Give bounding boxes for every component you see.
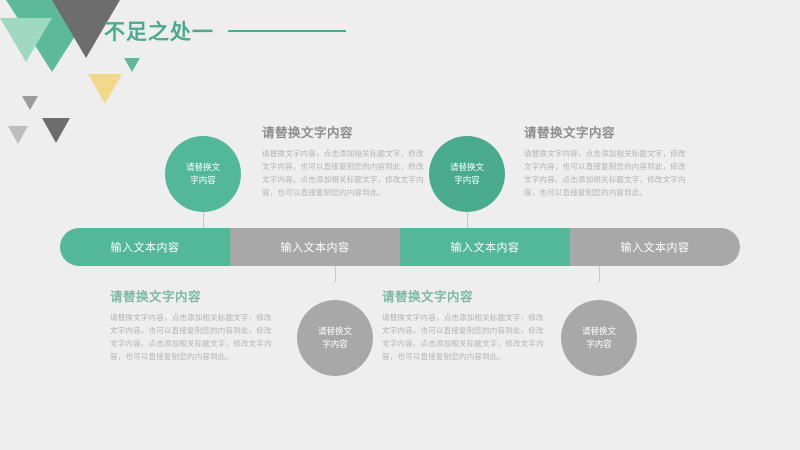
title-underline	[228, 30, 346, 32]
connector-bottom-left	[335, 266, 336, 282]
circle-node-3-label: 请替换文字内容	[318, 325, 352, 351]
decorative-triangle-teal-light	[0, 18, 52, 62]
process-bar-segment-1[interactable]: 输入文本内容	[60, 228, 230, 266]
text-block-bottom-right-body: 请替换文字内容，点击添加相关标题文字，修改文字内容，也可以直接复制您的内容到此，…	[382, 311, 546, 364]
circle-node-1[interactable]: 请替换文字内容	[165, 136, 241, 212]
text-block-top-left-body: 请替换文字内容，点击添加相关标题文字，修改文字内容，也可以直接复制您的内容到此，…	[262, 147, 426, 200]
circle-node-4[interactable]: 请替换文字内容	[561, 300, 637, 376]
text-block-bottom-right: 请替换文字内容 请替换文字内容，点击添加相关标题文字，修改文字内容，也可以直接复…	[382, 286, 546, 364]
circle-node-2-label: 请替换文字内容	[450, 161, 484, 187]
decorative-triangle-gray-mid	[42, 118, 70, 143]
circle-node-1-label: 请替换文字内容	[186, 161, 220, 187]
text-block-bottom-left: 请替换文字内容 请替换文字内容，点击添加相关标题文字，修改文字内容，也可以直接复…	[110, 286, 274, 364]
text-block-bottom-right-heading: 请替换文字内容	[382, 286, 546, 305]
page-title: 不足之处一	[104, 16, 346, 46]
circle-node-3[interactable]: 请替换文字内容	[297, 300, 373, 376]
text-block-bottom-left-heading: 请替换文字内容	[110, 286, 274, 305]
connector-top-left	[203, 212, 204, 228]
text-block-top-right-heading: 请替换文字内容	[524, 122, 688, 141]
text-block-bottom-left-body: 请替换文字内容，点击添加相关标题文字，修改文字内容，也可以直接复制您的内容到此，…	[110, 311, 274, 364]
text-block-top-left-heading: 请替换文字内容	[262, 122, 426, 141]
process-bar-segment-4[interactable]: 输入文本内容	[570, 228, 740, 266]
text-block-top-right-body: 请替换文字内容，点击添加相关标题文字，修改文字内容，也可以直接复制您的内容到此，…	[524, 147, 688, 200]
connector-bottom-right	[599, 266, 600, 282]
circle-node-2[interactable]: 请替换文字内容	[429, 136, 505, 212]
circle-node-4-label: 请替换文字内容	[582, 325, 616, 351]
decorative-triangle-gray-tiny	[22, 96, 38, 110]
text-block-top-left: 请替换文字内容 请替换文字内容，点击添加相关标题文字，修改文字内容，也可以直接复…	[262, 122, 426, 200]
process-bar: 输入文本内容 输入文本内容 输入文本内容 输入文本内容	[60, 228, 740, 266]
process-bar-segment-3[interactable]: 输入文本内容	[400, 228, 570, 266]
connector-top-right	[467, 212, 468, 228]
decorative-triangle-teal-small	[124, 58, 140, 72]
page-title-text: 不足之处一	[104, 16, 214, 46]
decorative-triangle-gray-pale	[8, 126, 28, 144]
text-block-top-right: 请替换文字内容 请替换文字内容，点击添加相关标题文字，修改文字内容，也可以直接复…	[524, 122, 688, 200]
process-bar-segment-2[interactable]: 输入文本内容	[230, 228, 400, 266]
decorative-triangle-yellow	[88, 74, 122, 104]
slide-canvas: 不足之处一 请替换文字内容 请替换文字内容，点击添加相关标题文字，修改文字内容，…	[0, 0, 800, 450]
